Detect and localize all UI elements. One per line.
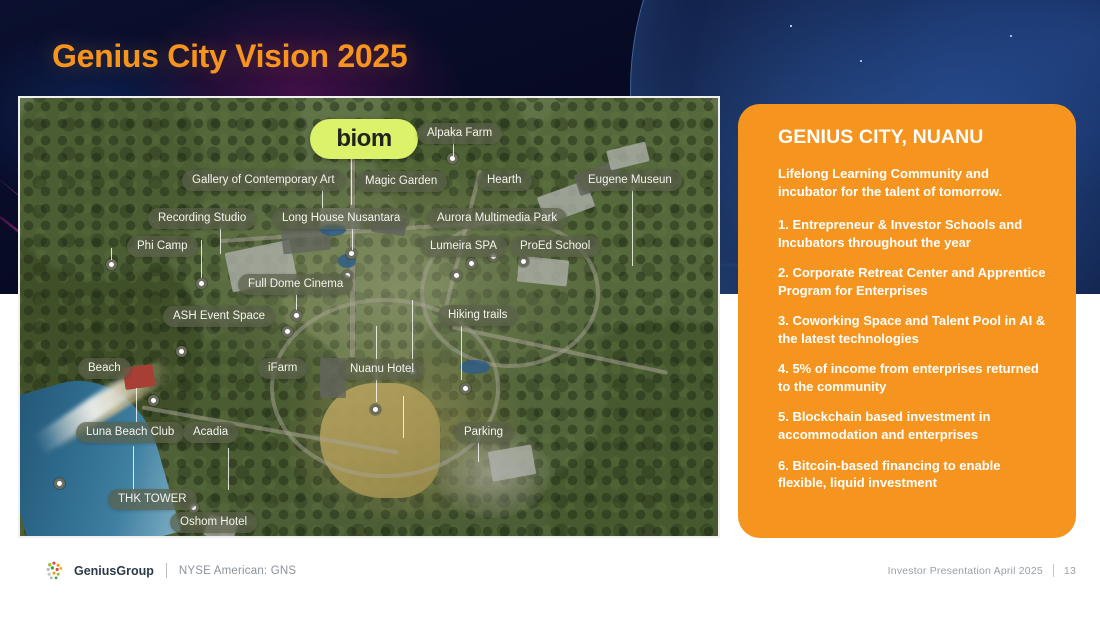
footer-divider (1053, 564, 1054, 577)
map-marker-dot[interactable] (196, 278, 207, 289)
map-label-magic-garden[interactable]: Magic Garden (355, 171, 447, 192)
map-label-hearth[interactable]: Hearth (477, 170, 532, 191)
footer-brand-block: GeniusGroup NYSE American: GNS (44, 560, 296, 581)
map-label-parking[interactable]: Parking (454, 422, 513, 443)
map-label-full-dome-cinema[interactable]: Full Dome Cinema (238, 274, 353, 295)
panel-heading: GENIUS CITY, NUANU (778, 126, 1050, 149)
map-marker-dot[interactable] (148, 395, 159, 406)
panel-item: 1. Entrepreneur & Investor Schools and I… (778, 216, 1050, 251)
leader-line (133, 446, 134, 494)
map-marker-dot[interactable] (460, 383, 471, 394)
map-label-aurora-multimedia-park[interactable]: Aurora Multimedia Park (427, 208, 567, 229)
info-panel: GENIUS CITY, NUANU Lifelong Learning Com… (738, 104, 1076, 538)
star-icon (1010, 35, 1012, 37)
leader-line (228, 448, 229, 490)
map-marker-dot[interactable] (466, 258, 477, 269)
map-marker-dot[interactable] (54, 478, 65, 489)
map-label-long-house-nusantara[interactable]: Long House Nusantara (272, 208, 410, 229)
deck-label: Investor Presentation April 2025 (888, 565, 1043, 577)
water-feature (460, 360, 490, 374)
map-label-ash-event-space[interactable]: ASH Event Space (163, 306, 275, 327)
map-marker-dot[interactable] (106, 259, 117, 270)
star-icon (860, 60, 862, 62)
leader-line (412, 300, 413, 366)
panel-item-list: 1. Entrepreneur & Investor Schools and I… (778, 216, 1050, 492)
map-label-alpaka-farm[interactable]: Alpaka Farm (417, 123, 502, 144)
leader-line (461, 320, 462, 380)
map-canvas: biom Gallery of Contemporary ArtMagic Ga… (20, 98, 718, 536)
map-label-thk-tower[interactable]: THK TOWER (108, 489, 197, 510)
site-map[interactable]: biom Gallery of Contemporary ArtMagic Ga… (18, 96, 720, 538)
map-label-ifarm[interactable]: iFarm (258, 358, 307, 379)
panel-item: 6. Bitcoin-based financing to enable fle… (778, 457, 1050, 492)
footer-meta-block: Investor Presentation April 2025 13 (888, 564, 1076, 577)
map-label-eugene-museum[interactable]: Eugene Museun (578, 170, 682, 191)
geniusgroup-logo-icon (44, 560, 65, 581)
leader-line (111, 248, 112, 260)
panel-lead-text: Lifelong Learning Community and incubato… (778, 165, 1050, 200)
map-label-proed-school[interactable]: ProEd School (510, 236, 600, 257)
map-marker-dot[interactable] (451, 270, 462, 281)
panel-item: 5. Blockchain based investment in accomm… (778, 408, 1050, 443)
map-marker-dot[interactable] (282, 326, 293, 337)
map-label-beach[interactable]: Beach (78, 358, 131, 379)
leader-line (201, 240, 202, 278)
geniusgroup-wordmark: GeniusGroup (74, 564, 154, 578)
panel-item: 2. Corporate Retreat Center and Apprenti… (778, 264, 1050, 299)
map-marker-dot[interactable] (518, 256, 529, 267)
panel-item: 3. Coworking Space and Talent Pool in AI… (778, 312, 1050, 347)
biom-logo-text: biom (336, 127, 391, 151)
map-label-luna-beach-club[interactable]: Luna Beach Club (76, 422, 184, 443)
slide-title: Genius City Vision 2025 (52, 38, 407, 75)
map-label-oshom-hotel[interactable]: Oshom Hotel (170, 512, 257, 533)
page-number: 13 (1064, 565, 1076, 577)
map-marker-dot[interactable] (291, 310, 302, 321)
footer-divider (166, 563, 167, 578)
map-label-hiking-trails[interactable]: Hiking trails (438, 305, 517, 326)
map-label-lumeira-spa[interactable]: Lumeira SPA (420, 236, 507, 257)
panel-item: 4. 5% of income from enterprises returne… (778, 360, 1050, 395)
leader-line (632, 186, 633, 266)
leader-line (403, 396, 404, 438)
leader-line (220, 226, 221, 254)
biom-logo-badge[interactable]: biom (310, 119, 418, 159)
leader-line (351, 159, 352, 205)
map-label-recording-studio[interactable]: Recording Studio (148, 208, 256, 229)
star-icon (790, 25, 792, 27)
map-label-phi-camp[interactable]: Phi Camp (127, 236, 198, 257)
map-label-nuanu-hotel[interactable]: Nuanu Hotel (340, 359, 424, 380)
map-marker-dot[interactable] (370, 404, 381, 415)
stock-ticker: NYSE American: GNS (179, 565, 296, 577)
map-marker-dot[interactable] (176, 346, 187, 357)
map-label-gallery-of-contemporary-art[interactable]: Gallery of Contemporary Art (182, 170, 345, 191)
map-label-acadia[interactable]: Acadia (183, 422, 238, 443)
leader-line (136, 388, 137, 422)
